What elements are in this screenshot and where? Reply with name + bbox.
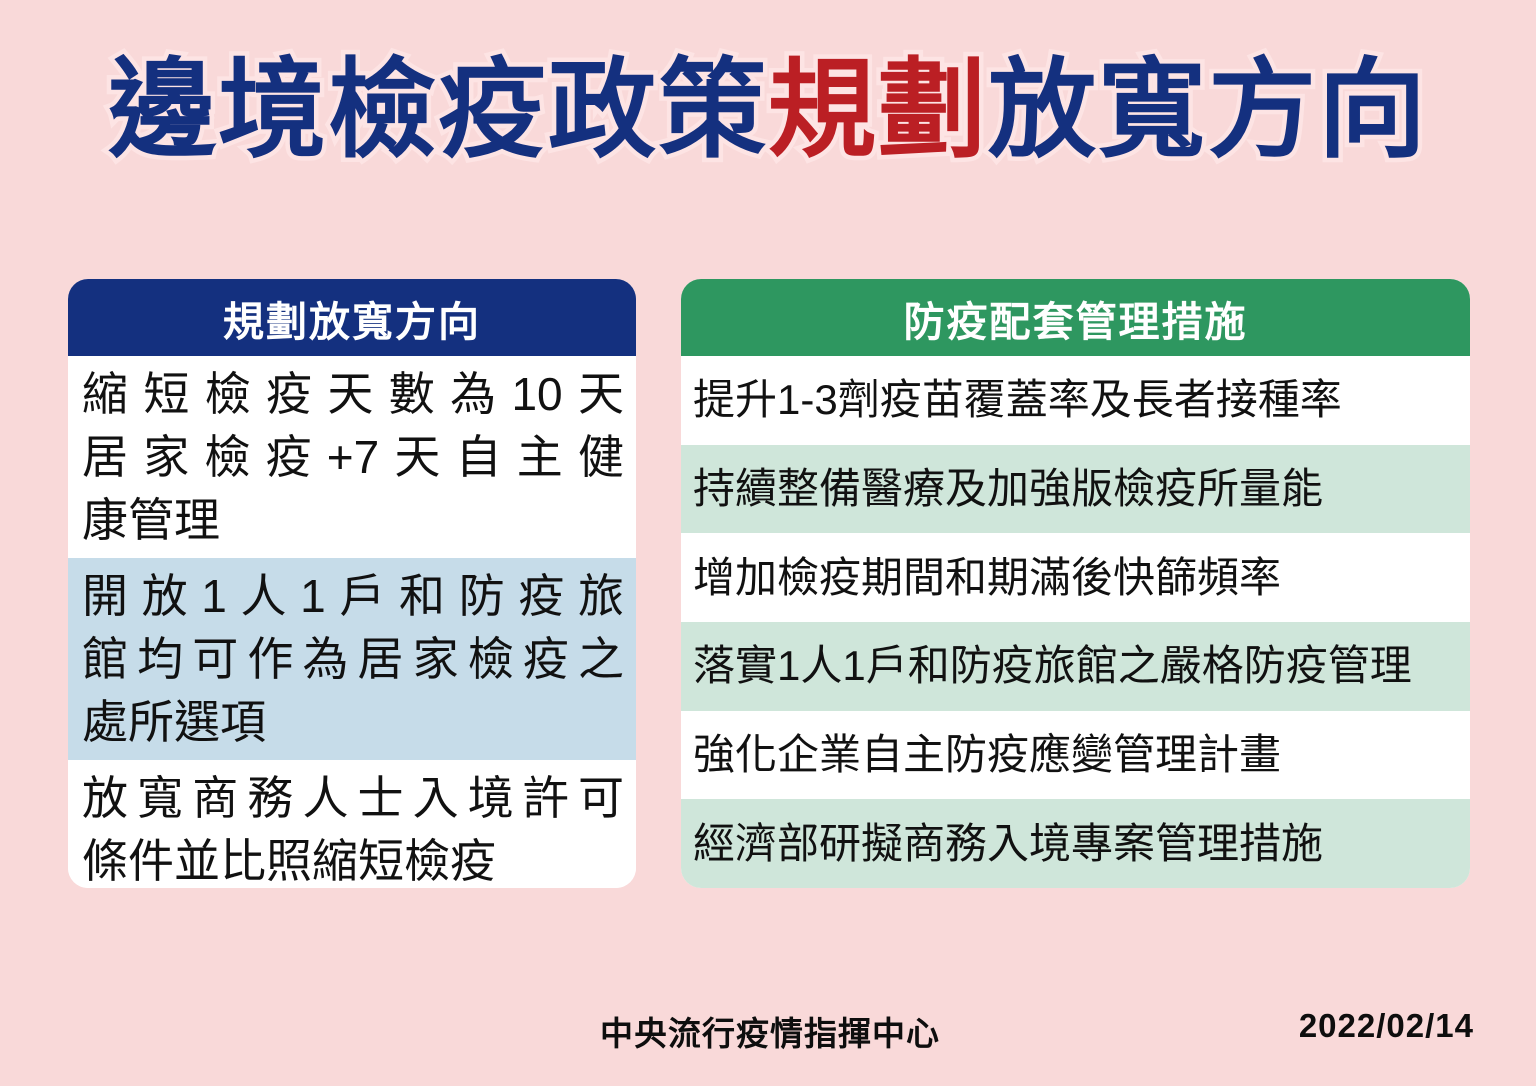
list-item: 開放1人1戶和防疫旅 館均可作為居家檢疫之 處所選項 bbox=[68, 558, 636, 760]
list-item: 增加檢疫期間和期滿後快篩頻率 bbox=[681, 533, 1470, 622]
list-item-line: 開放1人1戶和防疫旅 bbox=[82, 565, 624, 628]
list-item-line: 處所選項 bbox=[82, 691, 624, 754]
list-item-label: 經濟部研擬商務入境專案管理措施 bbox=[693, 819, 1323, 869]
list-item: 放寬商務人士入境許可 條件並比照縮短檢疫 bbox=[68, 760, 636, 888]
list-item: 經濟部研擬商務入境專案管理措施 bbox=[681, 799, 1470, 888]
page-title-segment-1: 邊境檢疫政策 bbox=[108, 49, 768, 170]
right-panel-rows: 提升1-3劑疫苗覆蓋率及長者接種率 持續整備醫療及加強版檢疫所量能 增加檢疫期間… bbox=[681, 356, 1470, 888]
list-item-label: 落實1人1戶和防疫旅館之嚴格防疫管理 bbox=[693, 641, 1412, 691]
left-panel-header-label: 規劃放寬方向 bbox=[223, 288, 481, 348]
list-item-label: 增加檢疫期間和期滿後快篩頻率 bbox=[693, 553, 1281, 603]
right-panel-support-measures: 防疫配套管理措施 提升1-3劑疫苗覆蓋率及長者接種率 持續整備醫療及加強版檢疫所… bbox=[681, 279, 1470, 888]
list-item: 持續整備醫療及加強版檢疫所量能 bbox=[681, 445, 1470, 534]
list-item: 強化企業自主防疫應變管理計畫 bbox=[681, 711, 1470, 800]
right-panel-header-label: 防疫配套管理措施 bbox=[904, 288, 1248, 348]
list-item-label: 持續整備醫療及加強版檢疫所量能 bbox=[693, 464, 1323, 514]
left-panel-rows: 縮短檢疫天數為10天 居家檢疫+7天自主健 康管理 開放1人1戶和防疫旅 館均可… bbox=[68, 356, 636, 888]
list-item-line: 縮短檢疫天數為10天 bbox=[82, 363, 624, 426]
right-panel-header: 防疫配套管理措施 bbox=[681, 279, 1470, 356]
footer-date: 2022/02/14 bbox=[1299, 1007, 1474, 1045]
page-title-container: 邊境檢疫政策規劃放寬方向 bbox=[0, 46, 1536, 173]
list-item-line: 館均可作為居家檢疫之 bbox=[82, 628, 624, 691]
list-item-label: 強化企業自主防疫應變管理計畫 bbox=[693, 730, 1281, 780]
list-item-line: 條件並比照縮短檢疫 bbox=[82, 830, 624, 888]
list-item-line: 康管理 bbox=[82, 489, 624, 552]
list-item: 提升1-3劑疫苗覆蓋率及長者接種率 bbox=[681, 356, 1470, 445]
list-item: 落實1人1戶和防疫旅館之嚴格防疫管理 bbox=[681, 622, 1470, 711]
list-item: 縮短檢疫天數為10天 居家檢疫+7天自主健 康管理 bbox=[68, 356, 636, 558]
page-title-segment-3: 放寬方向 bbox=[988, 49, 1428, 170]
footer: 中央流行疫情指揮中心 2022/02/14 bbox=[0, 1007, 1536, 1057]
list-item-line: 放寬商務人士入境許可 bbox=[82, 767, 624, 830]
page-title-segment-2-highlight: 規劃 bbox=[768, 49, 988, 170]
page-title: 邊境檢疫政策規劃放寬方向 bbox=[108, 46, 1428, 173]
left-panel-header: 規劃放寬方向 bbox=[68, 279, 636, 356]
footer-organization: 中央流行疫情指揮中心 bbox=[600, 1007, 940, 1055]
list-item-line: 居家檢疫+7天自主健 bbox=[82, 426, 624, 489]
left-panel-relaxation-directions: 規劃放寬方向 縮短檢疫天數為10天 居家檢疫+7天自主健 康管理 開放1人1戶和… bbox=[68, 279, 636, 888]
list-item-label: 提升1-3劑疫苗覆蓋率及長者接種率 bbox=[693, 375, 1342, 425]
